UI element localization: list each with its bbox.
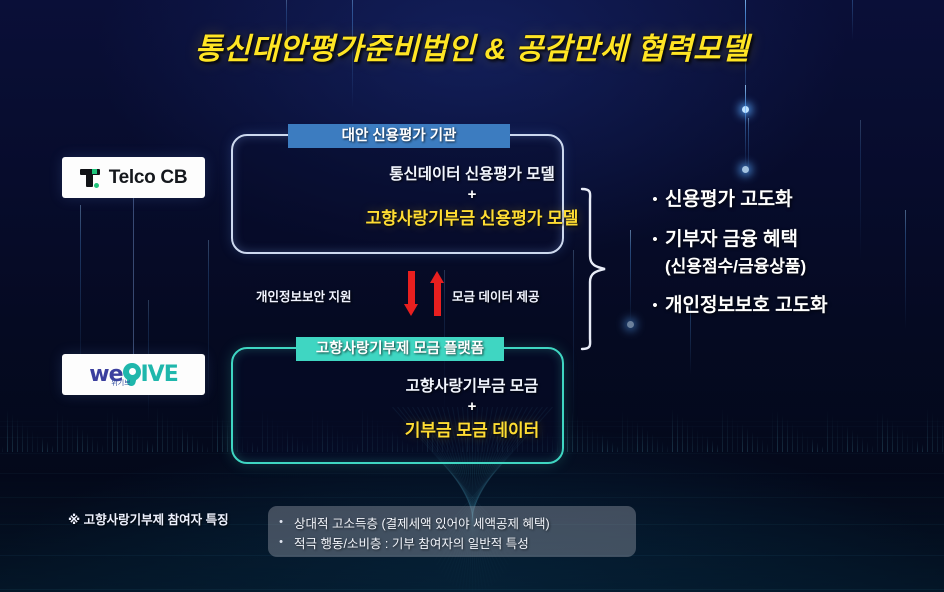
footnote-item-label: 상대적 고소득층 (결제세액 있어야 세액공제 혜택) (294, 513, 550, 532)
bullet-icon: • (645, 292, 665, 320)
streak-head-icon (742, 106, 749, 113)
page-title: 통신대안평가준비법인 & 공감만세 협력모델 (0, 24, 944, 68)
footnote-item-label: 적극 행동/소비층 : 기부 참여자의 일반적 특성 (294, 533, 529, 552)
outcome-list: • 신용평가 고도화 • 기부자 금융 혜택 (신용점수/금융상품) • 개인정… (645, 186, 937, 332)
footnote-item: • 상대적 고소득층 (결제세액 있어야 세액공제 혜택) (268, 513, 636, 531)
bullet-icon: • (645, 226, 665, 254)
streak-head-icon (627, 321, 634, 328)
light-streak-icon (745, 85, 746, 170)
outcome-item-label: 개인정보보호 고도화 (665, 292, 828, 320)
panel-donation-platform-body: 고향사랑기부금 모금 + 기부금 모금 데이터 (0, 374, 944, 441)
curly-brace-icon (578, 186, 612, 352)
panel-platform-line-1: 고향사랑기부금 모금 (0, 374, 944, 396)
panel-donation-platform-header: 고향사랑기부제 모금 플랫폼 (296, 337, 504, 361)
outcome-item-label: 신용평가 고도화 (665, 186, 793, 214)
panel-platform-line-2: 기부금 모금 데이터 (0, 416, 944, 441)
slide-canvas: 통신대안평가준비법인 & 공감만세 협력모델 Telco CB we IVE 위… (0, 0, 944, 592)
panel-credit-agency-header: 대안 신용평가 기관 (288, 124, 510, 148)
outcome-item-label: 기부자 금융 혜택 (665, 226, 798, 254)
footnote-item: • 적극 행동/소비층 : 기부 참여자의 일반적 특성 (268, 533, 636, 551)
arrow-label-right: 모금 데이터 제공 (452, 286, 539, 305)
footnote-label: ※ 고향사랑기부제 참여자 특징 (68, 509, 229, 528)
footnote-box: • 상대적 고소득층 (결제세액 있어야 세액공제 혜택) • 적극 행동/소비… (268, 506, 636, 557)
outcome-item: • 개인정보보호 고도화 (645, 292, 937, 320)
bullet-icon: • (268, 536, 294, 548)
arrow-label-left: 개인정보보안 지원 (256, 286, 351, 305)
arrow-up-icon (430, 271, 445, 316)
panel-credit-line-1: 통신데이터 신용평가 모델 (0, 162, 944, 184)
bullet-icon: • (268, 516, 294, 528)
light-streak-icon (630, 230, 631, 325)
outcome-item: • 기부자 금융 혜택 (신용점수/금융상품) (645, 226, 937, 280)
outcome-item: • 신용평가 고도화 (645, 186, 937, 214)
panel-platform-plus: + (0, 398, 944, 415)
outcome-item-subtext: (신용점수/금융상품) (665, 254, 937, 280)
bullet-icon: • (645, 186, 665, 214)
arrow-down-icon (404, 271, 419, 316)
